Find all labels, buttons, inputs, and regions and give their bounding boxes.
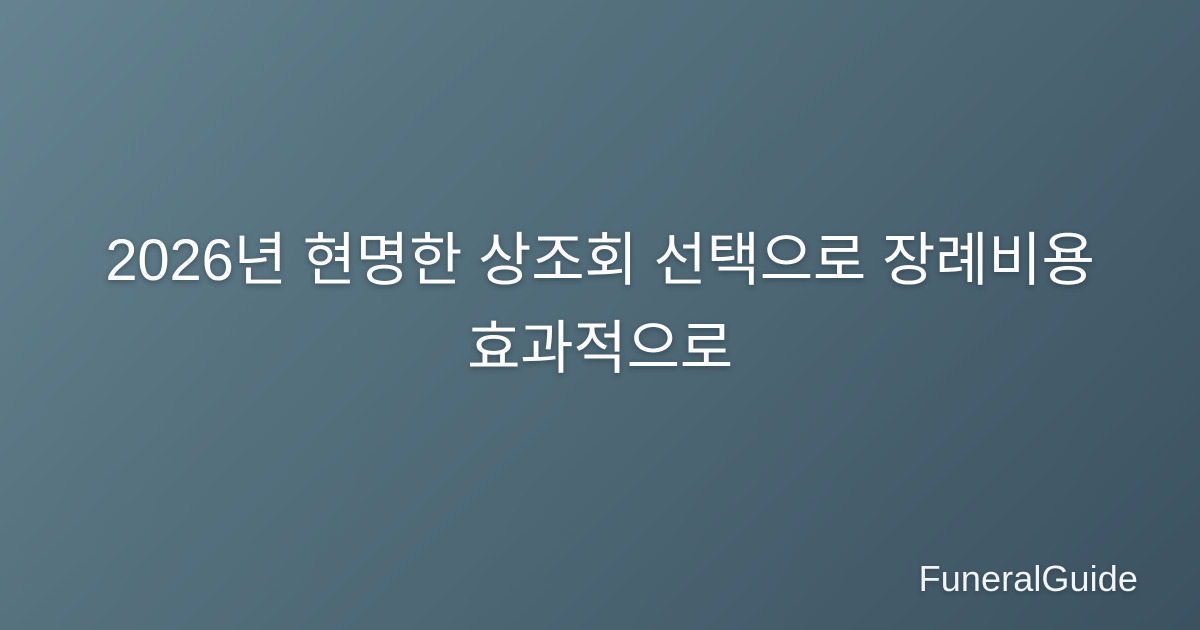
- page-title: 2026년 현명한 상조회 선택으로 장례비용 효과적으로: [88, 217, 1112, 393]
- social-share-card: 2026년 현명한 상조회 선택으로 장례비용 효과적으로 FuneralGui…: [0, 0, 1200, 630]
- brand-wordmark: FuneralGuide: [919, 561, 1138, 597]
- headline-container: 2026년 현명한 상조회 선택으로 장례비용 효과적으로: [0, 0, 1200, 630]
